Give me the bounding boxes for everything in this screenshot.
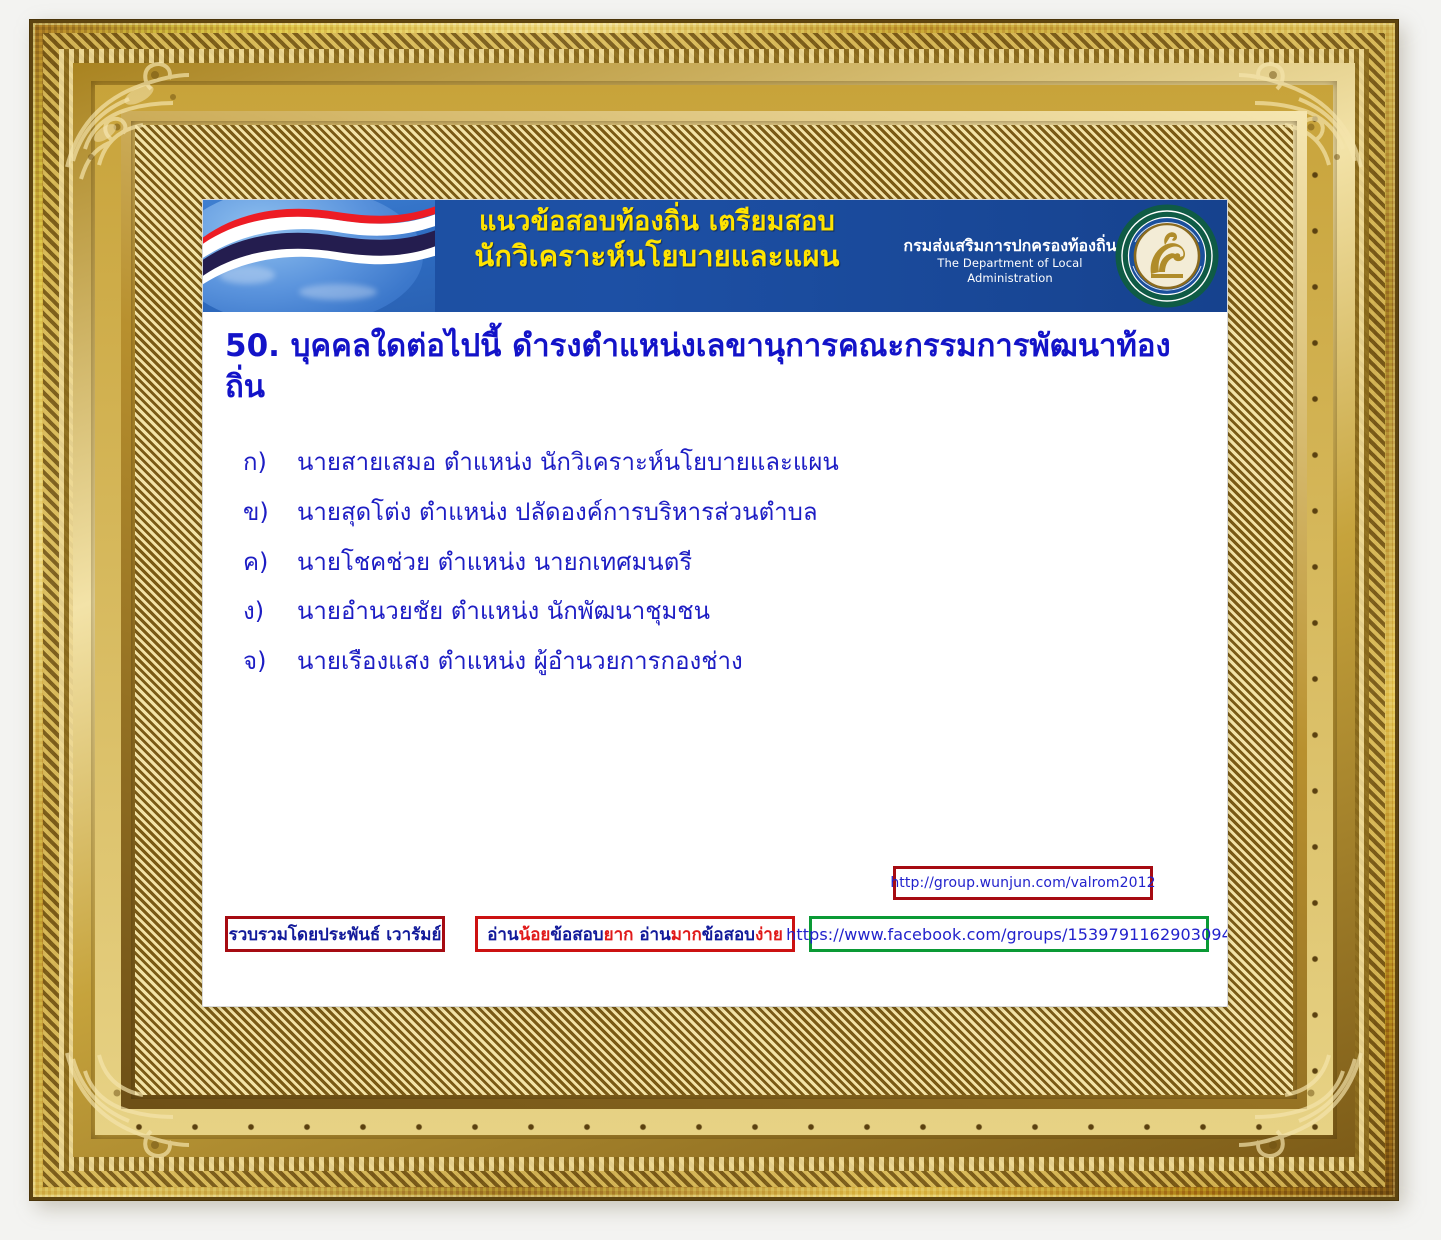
motto-box: อ่านน้อยข้อสอบยาก อ่านมากข้อสอบง่าย: [475, 916, 795, 952]
choice-label: นายสายเสมอ ตำแหน่ง นักวิเคราะห์นโยบายและ…: [297, 448, 1183, 477]
choice-item[interactable]: จ) นายเรืองแสง ตำแหน่ง ผู้อำนวยการกองช่า…: [243, 647, 1183, 676]
choice-key: ข): [243, 498, 297, 527]
thai-flag-icon: [203, 202, 435, 312]
group-url-text: http://group.wunjun.com/valrom2012: [890, 875, 1155, 891]
corner-ornament-icon: [47, 37, 197, 187]
banner-title-line1: แนวข้อสอบท้องถิ่น เตรียมสอบ: [427, 206, 887, 239]
choice-list: ก) นายสายเสมอ ตำแหน่ง นักวิเคราะห์นโยบาย…: [243, 448, 1183, 697]
thai-flag-image: [203, 200, 435, 312]
banner-title-line2: นักวิเคราะห์นโยบายและแผน: [427, 239, 887, 274]
motto-segment: ง่าย: [755, 925, 783, 945]
choice-key: ค): [243, 548, 297, 577]
facebook-url-text: https://www.facebook.com/groups/15397911…: [786, 925, 1227, 944]
department-name-thai: กรมส่งเสริมการปกครองท้องถิ่น: [903, 236, 1117, 256]
motto-segment: มาก: [671, 925, 702, 945]
choice-item[interactable]: ข) นายสุดโต่ง ตำแหน่ง ปลัดองค์การบริหารส…: [243, 498, 1183, 527]
page-root: แนวข้อสอบท้องถิ่น เตรียมสอบ นักวิเคราะห์…: [0, 0, 1441, 1240]
corner-ornament-icon: [47, 1033, 197, 1183]
department-name: กรมส่งเสริมการปกครองท้องถิ่น The Departm…: [903, 236, 1117, 286]
credit-box: รวบรวมโดยประพันธ์ เวารัมย์: [225, 916, 445, 952]
choice-label: นายอำนวยชัย ตำแหน่ง นักพัฒนาชุมชน: [297, 597, 1183, 626]
choice-item[interactable]: ก) นายสายเสมอ ตำแหน่ง นักวิเคราะห์นโยบาย…: [243, 448, 1183, 477]
choice-label: นายเรืองแสง ตำแหน่ง ผู้อำนวยการกองช่าง: [297, 647, 1183, 676]
choice-item[interactable]: ง) นายอำนวยชัย ตำแหน่ง นักพัฒนาชุมชน: [243, 597, 1183, 626]
slide-canvas: แนวข้อสอบท้องถิ่น เตรียมสอบ นักวิเคราะห์…: [203, 200, 1227, 1006]
question-text: 50. บุคคลใดต่อไปนี้ ดำรงตำแหน่งเลขานุการ…: [225, 326, 1205, 408]
corner-ornament-icon: [1231, 1033, 1381, 1183]
department-name-english: The Department of Local Administration: [903, 256, 1117, 286]
choice-key: ก): [243, 448, 297, 477]
motto-text: อ่านน้อยข้อสอบยาก อ่านมากข้อสอบง่าย: [487, 921, 783, 948]
motto-segment: น้อย: [519, 925, 551, 945]
facebook-url-box[interactable]: https://www.facebook.com/groups/15397911…: [809, 916, 1209, 952]
group-url-box[interactable]: http://group.wunjun.com/valrom2012: [893, 866, 1153, 900]
motto-segment: อ่าน: [487, 925, 518, 945]
motto-segment: ยาก: [604, 925, 634, 945]
choice-label: นายสุดโต่ง ตำแหน่ง ปลัดองค์การบริหารส่วน…: [297, 498, 1183, 527]
choice-item[interactable]: ค) นายโชคช่วย ตำแหน่ง นายกเทศมนตรี: [243, 548, 1183, 577]
credit-text: รวบรวมโดยประพันธ์ เวารัมย์: [229, 921, 442, 948]
department-emblem-icon: [1115, 204, 1219, 308]
choice-key: จ): [243, 647, 297, 676]
motto-segment: ข้อสอบ: [550, 925, 603, 945]
choice-key: ง): [243, 597, 297, 626]
slide-banner: แนวข้อสอบท้องถิ่น เตรียมสอบ นักวิเคราะห์…: [203, 200, 1227, 312]
banner-title: แนวข้อสอบท้องถิ่น เตรียมสอบ นักวิเคราะห์…: [427, 206, 887, 274]
motto-segment: อ่าน: [633, 925, 670, 945]
motto-segment: ข้อสอบ: [702, 925, 755, 945]
corner-ornament-icon: [1231, 37, 1381, 187]
choice-label: นายโชคช่วย ตำแหน่ง นายกเทศมนตรี: [297, 548, 1183, 577]
